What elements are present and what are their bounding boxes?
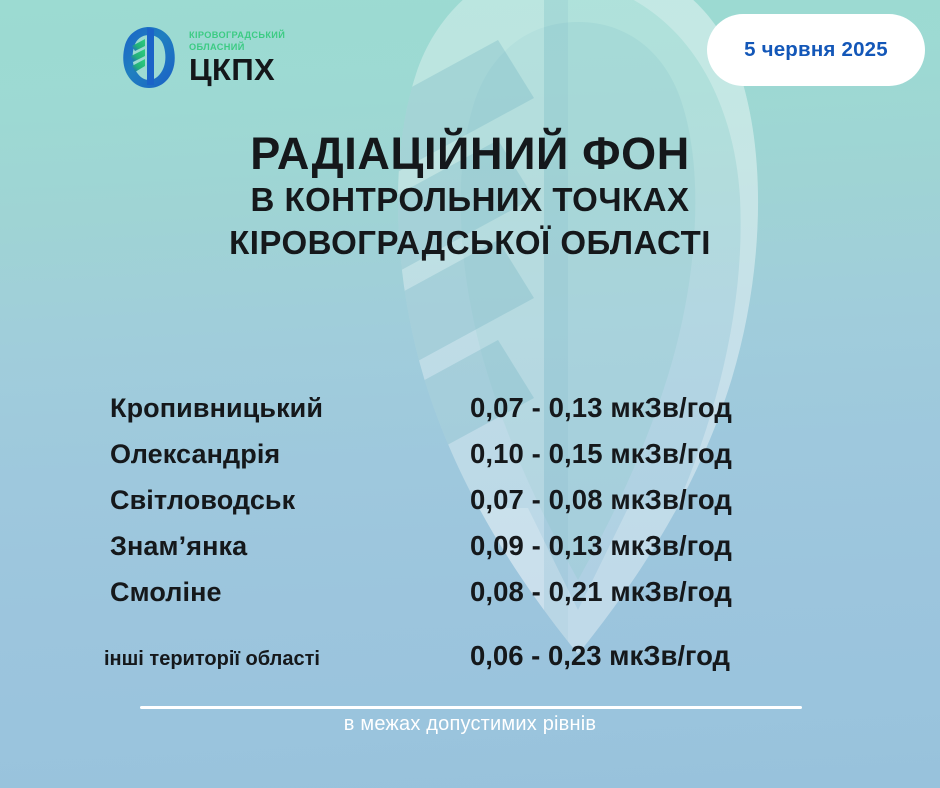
footer-divider bbox=[140, 706, 802, 709]
logo-abbreviation: ЦКПХ bbox=[189, 54, 285, 86]
table-row: Смоліне 0,08 - 0,21 мкЗв/год bbox=[0, 569, 940, 615]
logo-wordmark: КІРОВОГРАДСЬКИЙ ОБЛАСНИЙ ЦКПХ bbox=[189, 29, 285, 86]
radiation-value: 0,08 - 0,21 мкЗв/год bbox=[470, 576, 732, 608]
table-row: Олександрія 0,10 - 0,15 мкЗв/год bbox=[0, 431, 940, 477]
table-row: Світловодськ 0,07 - 0,08 мкЗв/год bbox=[0, 477, 940, 523]
organization-logo: КІРОВОГРАДСЬКИЙ ОБЛАСНИЙ ЦКПХ bbox=[118, 24, 285, 90]
table-row-other-territories: інші території області 0,06 - 0,23 мкЗв/… bbox=[0, 640, 940, 686]
table-row: Знам’янка 0,09 - 0,13 мкЗв/год bbox=[0, 523, 940, 569]
location-name: Смоліне bbox=[110, 577, 222, 608]
location-name: Кропивницький bbox=[110, 393, 323, 424]
location-name: Світловодськ bbox=[110, 485, 295, 516]
location-name: Олександрія bbox=[110, 439, 280, 470]
measurements-table: Кропивницький 0,07 - 0,13 мкЗв/год Олекс… bbox=[0, 385, 940, 615]
title-line-3: КІРОВОГРАДСЬКОЇ ОБЛАСТІ bbox=[0, 222, 940, 264]
page-title: РАДІАЦІЙНИЙ ФОН В КОНТРОЛЬНИХ ТОЧКАХ КІР… bbox=[0, 128, 940, 264]
title-line-1: РАДІАЦІЙНИЙ ФОН bbox=[0, 128, 940, 179]
date-badge: 5 червня 2025 bbox=[707, 14, 925, 86]
shield-heart-logo-icon bbox=[118, 24, 180, 90]
title-line-2: В КОНТРОЛЬНИХ ТОЧКАХ bbox=[0, 179, 940, 221]
logo-line-2: ОБЛАСНИЙ bbox=[189, 41, 285, 53]
footer-note: в межах допустимих рівнів bbox=[0, 713, 940, 736]
radiation-value: 0,07 - 0,13 мкЗв/год bbox=[470, 392, 732, 424]
radiation-value: 0,09 - 0,13 мкЗв/год bbox=[470, 530, 732, 562]
table-row: Кропивницький 0,07 - 0,13 мкЗв/год bbox=[0, 385, 940, 431]
radiation-value: 0,07 - 0,08 мкЗв/год bbox=[470, 484, 732, 516]
logo-line-1: КІРОВОГРАДСЬКИЙ bbox=[189, 29, 285, 41]
radiation-value: 0,10 - 0,15 мкЗв/год bbox=[470, 438, 732, 470]
poster-canvas: КІРОВОГРАДСЬКИЙ ОБЛАСНИЙ ЦКПХ 5 червня 2… bbox=[0, 0, 940, 788]
date-badge-label: 5 червня 2025 bbox=[744, 38, 888, 62]
header: КІРОВОГРАДСЬКИЙ ОБЛАСНИЙ ЦКПХ 5 червня 2… bbox=[0, 0, 940, 110]
other-territories-label: інші території області bbox=[104, 648, 320, 671]
other-territories-value: 0,06 - 0,23 мкЗв/год bbox=[470, 640, 730, 672]
location-name: Знам’янка bbox=[110, 531, 247, 562]
